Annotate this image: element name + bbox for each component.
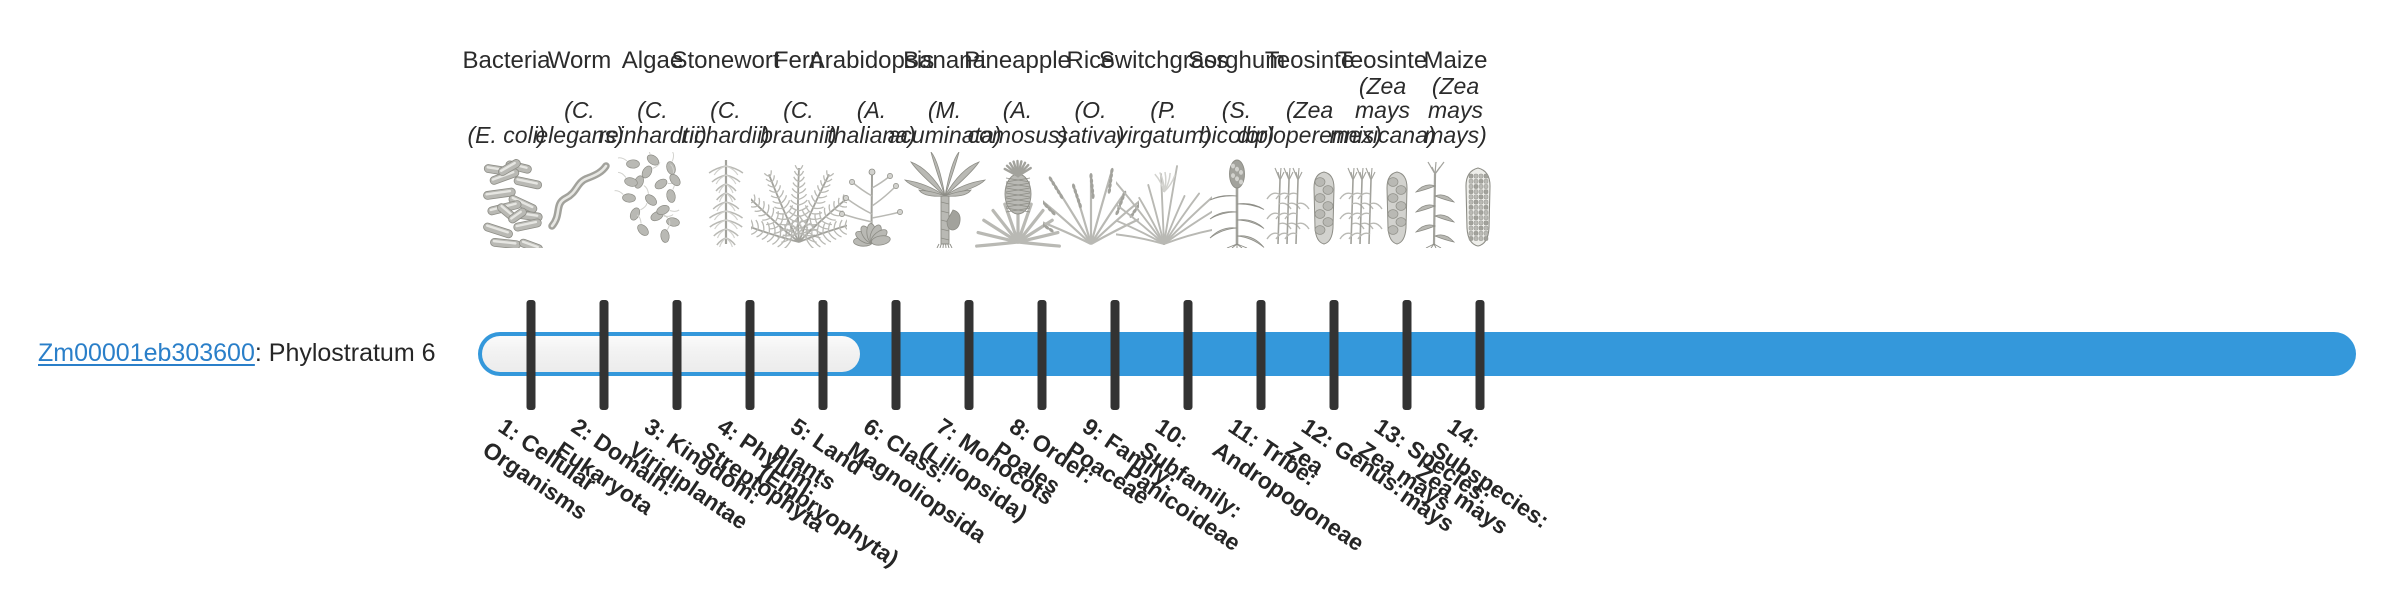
tick-mark	[1111, 300, 1120, 410]
species-column: Maize(Zea mays mays)	[1419, 48, 1492, 248]
gene-label-separator: :	[255, 339, 269, 367]
tick-mark	[892, 300, 901, 410]
species-common-name: Worm	[548, 48, 612, 78]
species-common-name: Bacteria	[462, 48, 550, 78]
tick-mark-group	[470, 300, 2370, 410]
species-scientific-name: (Zea mays mays)	[1404, 86, 1508, 148]
gene-id-link[interactable]: Zm00001eb303600	[38, 339, 255, 367]
phylostratum-figure: Zm00001eb303600: Phylostratum 6 Bacteria…	[0, 0, 2400, 580]
tick-mark	[673, 300, 682, 410]
taxonomic-rank-row: 1: Cellular Organisms2: Domain: Eukaryot…	[470, 412, 2370, 580]
tick-mark	[1403, 300, 1412, 410]
gene-phylostratum-label: Zm00001eb303600: Phylostratum 6	[38, 338, 436, 368]
tick-mark	[600, 300, 609, 410]
phylostratum-value: Phylostratum 6	[269, 339, 436, 367]
tick-mark	[527, 300, 536, 410]
tick-mark	[1476, 300, 1485, 410]
species-illustration-maize-plant-ear-icon	[1408, 152, 1504, 248]
tick-mark	[819, 300, 828, 410]
tick-mark	[1257, 300, 1266, 410]
species-header-row: Bacteria(E. coli)Worm(C. elegans)Algae(C…	[470, 48, 2370, 298]
tick-mark	[1330, 300, 1339, 410]
tick-mark	[1184, 300, 1193, 410]
tick-mark	[965, 300, 974, 410]
tick-mark	[1038, 300, 1047, 410]
tick-mark	[746, 300, 755, 410]
